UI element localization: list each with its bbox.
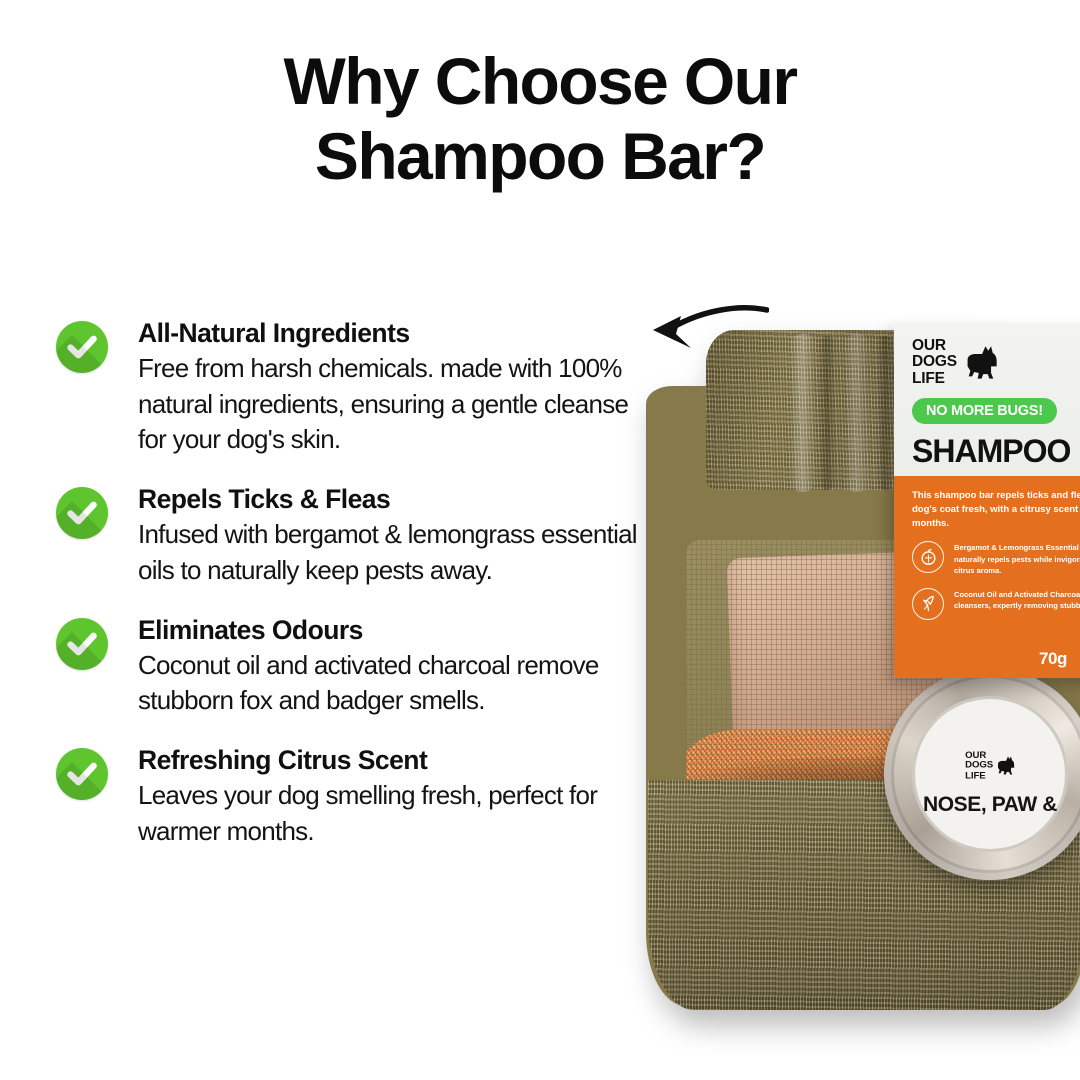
label-product-title: SHAMPOO BAR	[912, 433, 1080, 470]
tin-brand-line-2: DOGS	[965, 760, 993, 770]
tin-caption: NOSE, PAW &	[923, 793, 1057, 817]
feature-title: All-Natural Ingredients	[138, 318, 656, 349]
tin-brand-line-1: OUR	[965, 750, 993, 760]
dog-silhouette-icon	[964, 344, 998, 382]
charcoal-leaf-icon	[912, 588, 944, 620]
feature-description: Coconut oil and activated charcoal remov…	[138, 648, 656, 720]
label-brand-logo: OUR DOGS LIFE	[912, 338, 1080, 387]
citrus-fruit-icon	[912, 541, 944, 573]
feature-title: Eliminates Odours	[138, 615, 656, 646]
feature-list: All-Natural Ingredients Free from harsh …	[56, 318, 656, 850]
feature-item-eliminates-odours: Eliminates Odours Coconut oil and activa…	[56, 615, 656, 719]
check-circle-icon	[56, 487, 108, 539]
metal-tin: OUR DOGS LIFE NOSE, PAW &	[884, 668, 1080, 880]
feature-item-repels-ticks-fleas: Repels Ticks & Fleas Infused with bergam…	[56, 484, 656, 588]
benefit-text: Coconut Oil and Activated Charcoal, Natu…	[954, 588, 1080, 612]
label-benefit-row: Bergamot & Lemongrass Essential Oils, a …	[912, 541, 1080, 576]
check-circle-icon	[56, 321, 108, 373]
tin-brand-line-3: LIFE	[965, 771, 993, 781]
brand-line-2: DOGS	[912, 354, 957, 370]
feature-item-refreshing-citrus-scent: Refreshing Citrus Scent Leaves your dog …	[56, 745, 656, 849]
check-circle-icon	[56, 618, 108, 670]
brand-line-3: LIFE	[912, 371, 957, 387]
headline-line-1: Why Choose Our	[284, 44, 797, 118]
tin-brand-logo: OUR DOGS LIFE	[965, 750, 1015, 781]
feature-title: Refreshing Citrus Scent	[138, 745, 656, 776]
page-title: Why Choose Our Shampoo Bar?	[0, 44, 1080, 193]
product-weight: 70g	[894, 649, 1080, 669]
feature-description: Infused with bergamot & lemongrass essen…	[138, 517, 656, 589]
headline-line-2: Shampoo Bar?	[0, 119, 1080, 194]
benefit-text: Bergamot & Lemongrass Essential Oils, a …	[954, 541, 1080, 576]
check-circle-icon	[56, 748, 108, 800]
product-label: OUR DOGS LIFE NO MORE BUGS! SHAMPOO BAR …	[894, 324, 1080, 678]
feature-description: Free from harsh chemicals. made with 100…	[138, 351, 656, 459]
no-more-bugs-badge: NO MORE BUGS!	[912, 398, 1057, 424]
label-benefit-row: Coconut Oil and Activated Charcoal, Natu…	[912, 588, 1080, 620]
label-intro-text: This shampoo bar repels ticks and fleas …	[912, 489, 1080, 530]
feature-item-all-natural-ingredients: All-Natural Ingredients Free from harsh …	[56, 318, 656, 458]
feature-title: Repels Ticks & Fleas	[138, 484, 656, 515]
feature-description: Leaves your dog smelling fresh, perfect …	[138, 778, 656, 850]
brand-line-1: OUR	[912, 338, 957, 354]
product-photo: OUR DOGS LIFE NOSE, PAW & OUR DOGS LIFE	[612, 318, 1080, 1018]
dog-silhouette-icon	[996, 755, 1015, 776]
